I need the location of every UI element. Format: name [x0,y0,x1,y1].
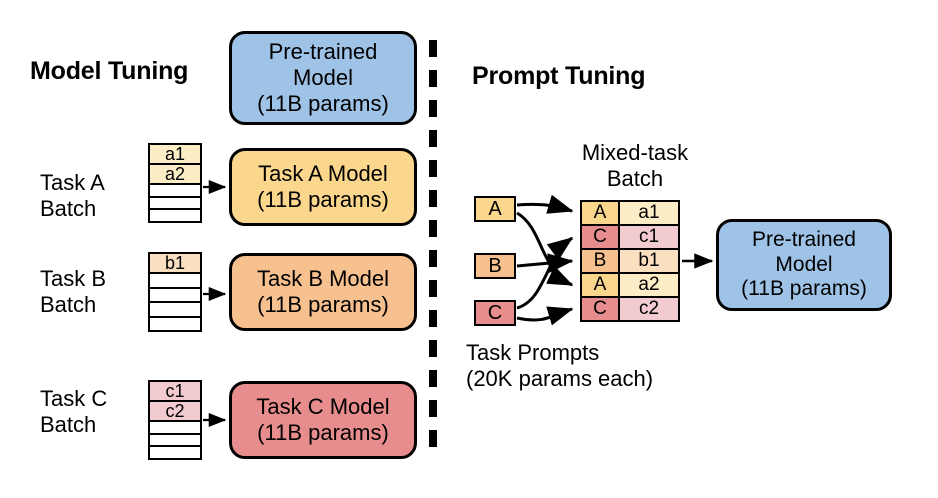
table-row [150,210,200,221]
arrow-prompt-c-to-row-5 [517,309,572,320]
mixed-row-value: c2 [620,298,678,320]
mixed-row-value: a2 [620,274,678,296]
pretrained-model-right-line-3: (11B params) [741,277,867,302]
mixed-task-batch-heading-line-1: Mixed-task [560,140,710,166]
task-c-batch-label-line-2: Batch [40,412,140,438]
task-prompt-chip-c: C [474,300,516,326]
pretrained-model-right-line-1: Pre-trained [752,228,856,253]
task-a-batch-table: a1 a2 [148,143,202,223]
task-a-batch-label-line-2: Batch [40,196,140,222]
prompt-tuning-title: Prompt Tuning [472,62,645,91]
task-c-model-box: Task C Model (11B params) [229,381,417,459]
pretrained-model-line-3: (11B params) [257,91,389,117]
task-b-batch-label-line-2: Batch [40,292,140,318]
task-b-model-line-2: (11B params) [257,292,389,318]
pretrained-model-box-right: Pre-trained Model (11B params) [716,219,892,311]
mixed-row-value: a1 [620,202,678,224]
task-a-batch-label-line-1: Task A [40,170,140,196]
arrow-prompt-c-to-row-2 [517,238,572,308]
pretrained-model-line-2: Model [293,65,353,91]
table-row [150,289,200,304]
arrow-prompt-a-to-row-4 [517,213,572,285]
table-row: A a2 [582,274,678,298]
mixed-row-tag: B [582,250,620,272]
table-row: a2 [150,165,200,185]
table-row [150,185,200,198]
table-row [150,422,200,435]
task-b-model-box: Task B Model (11B params) [229,253,417,331]
mixed-row-value: c1 [620,226,678,248]
mixed-row-tag: C [582,226,620,248]
task-prompt-chip-b: B [474,253,516,279]
task-c-model-line-2: (11B params) [257,420,389,446]
prompt-tuning-figure: Model Tuning Pre-trained Model (11B para… [0,0,938,498]
mixed-task-batch-table: A a1 C c1 B b1 A a2 C c2 [580,200,680,322]
table-row: c2 [150,402,200,422]
table-row: B b1 [582,250,678,274]
mixed-row-tag: A [582,274,620,296]
table-row: a1 [150,145,200,165]
table-row [150,435,200,448]
mixed-row-tag: A [582,202,620,224]
task-a-batch-label: Task A Batch [40,170,140,222]
table-row [150,318,200,331]
task-a-model-box: Task A Model (11B params) [229,148,417,226]
task-a-model-line-2: (11B params) [257,187,389,213]
task-a-model-line-1: Task A Model [258,161,388,187]
model-tuning-title: Model Tuning [30,57,188,86]
mixed-task-batch-heading-line-2: Batch [560,166,710,192]
arrow-prompt-b-to-row-3 [517,261,572,266]
task-b-model-line-1: Task B Model [257,266,389,292]
task-b-batch-label: Task B Batch [40,266,140,318]
pretrained-model-right-line-2: Model [775,253,832,278]
pretrained-model-box-left: Pre-trained Model (11B params) [229,31,417,125]
table-row: c1 [150,382,200,402]
table-row: A a1 [582,202,678,226]
arrow-prompt-a-to-row-1 [517,204,572,211]
table-row [150,198,200,211]
task-c-batch-table: c1 c2 [148,380,202,460]
task-prompts-caption-line-1: Task Prompts [466,340,696,366]
task-b-batch-table: b1 [148,252,202,332]
task-prompt-chip-a: A [474,196,516,222]
table-row [150,447,200,458]
table-row: b1 [150,254,200,274]
mixed-row-value: b1 [620,250,678,272]
task-c-batch-label: Task C Batch [40,386,140,438]
task-b-batch-label-line-1: Task B [40,266,140,292]
table-row: C c1 [582,226,678,250]
table-row [150,303,200,318]
table-row: C c2 [582,298,678,320]
task-prompts-caption: Task Prompts (20K params each) [466,340,696,392]
table-row [150,274,200,289]
pretrained-model-line-1: Pre-trained [269,39,378,65]
mixed-row-tag: C [582,298,620,320]
task-c-batch-label-line-1: Task C [40,386,140,412]
mixed-task-batch-heading: Mixed-task Batch [560,140,710,192]
task-prompts-caption-line-2: (20K params each) [466,366,696,392]
task-c-model-line-1: Task C Model [256,394,389,420]
